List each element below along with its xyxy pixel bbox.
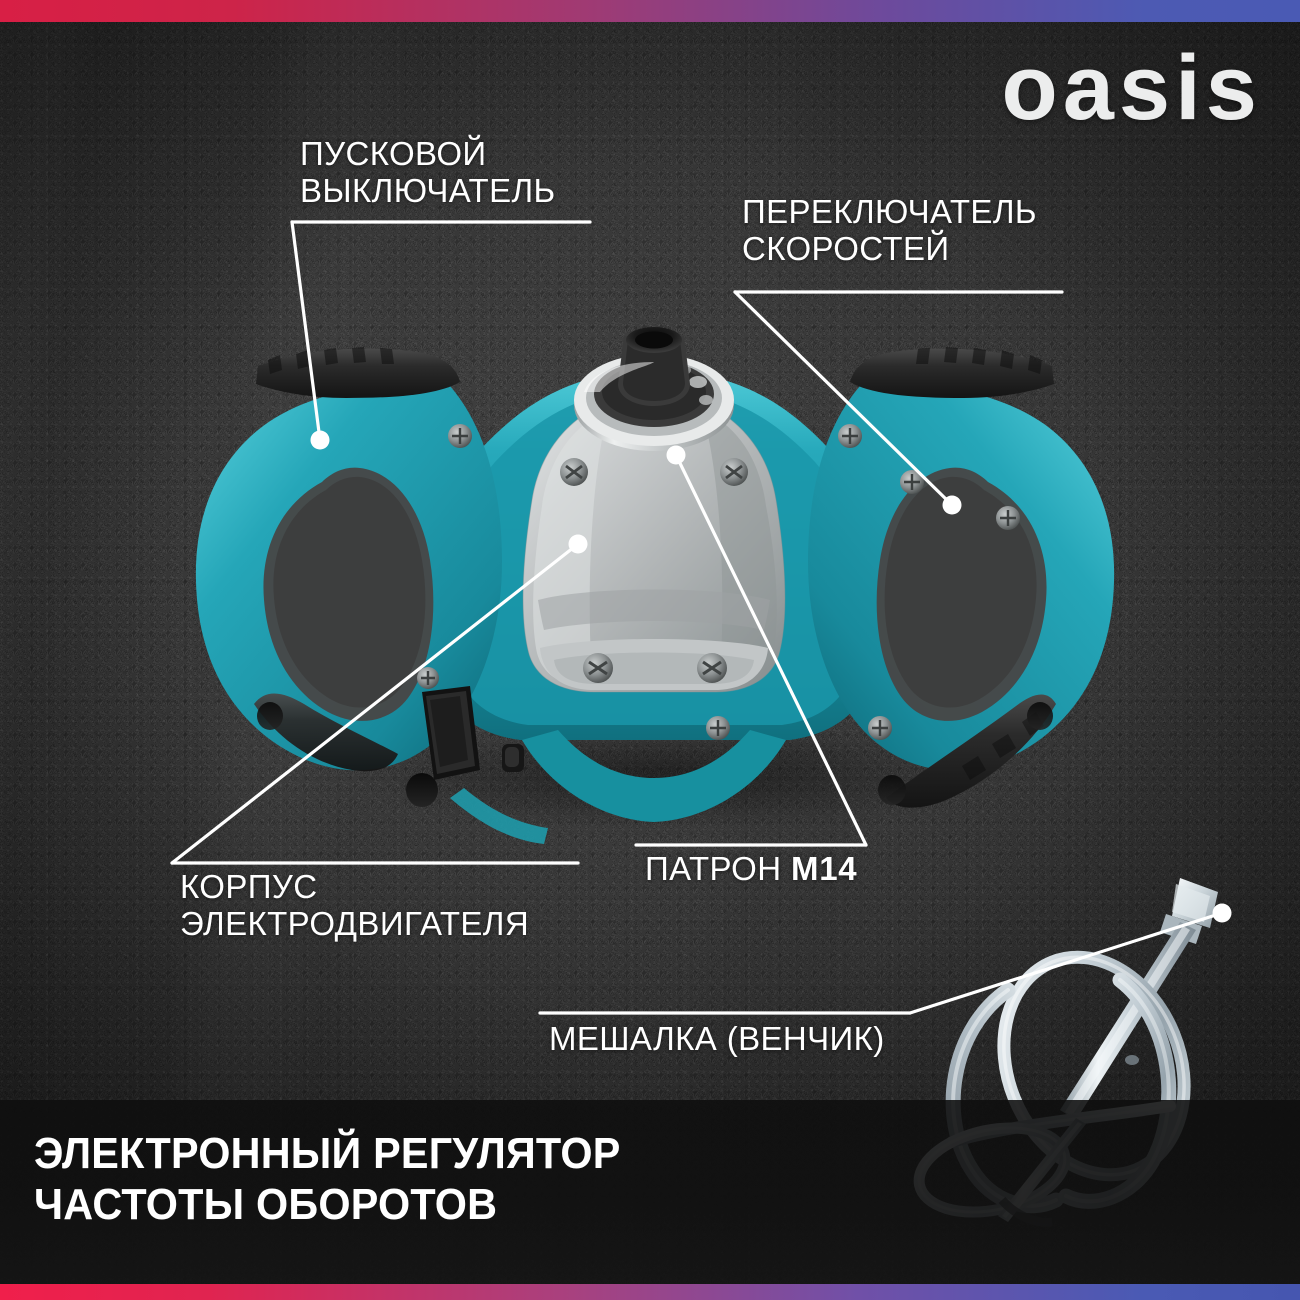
callout-label-start-switch: ПУСКОВОЙ ВЫКЛЮЧАТЕЛЬ bbox=[300, 136, 556, 210]
callout-motor-housing: КОРПУС ЭЛЕКТРОДВИГАТЕЛЯ bbox=[180, 869, 529, 943]
top-gradient-bar bbox=[0, 0, 1300, 22]
chuck-m14 bbox=[574, 327, 734, 451]
callout-label-chuck-size: M14 bbox=[791, 850, 857, 887]
headline-text: ЭЛЕКТРОННЫЙ РЕГУЛЯТОР ЧАСТОТЫ ОБОРОТОВ bbox=[34, 1129, 621, 1230]
product-image-mixer bbox=[150, 300, 1160, 860]
infographic-canvas: oasis bbox=[0, 0, 1300, 1300]
callout-whisk: МЕШАЛКА (ВЕНЧИК) bbox=[549, 1021, 885, 1058]
callout-label-chuck: ПАТРОН M14 bbox=[645, 851, 857, 888]
left-vent-hole bbox=[406, 773, 438, 807]
start-switch-trigger bbox=[422, 686, 480, 780]
callout-chuck-m14: ПАТРОН M14 bbox=[645, 851, 857, 888]
callout-speed-switch: ПЕРЕКЛЮЧАТЕЛЬ СКОРОСТЕЙ bbox=[742, 194, 1037, 268]
callout-label-motor-housing: КОРПУС ЭЛЕКТРОДВИГАТЕЛЯ bbox=[180, 869, 529, 943]
bottom-gradient-bar bbox=[0, 1284, 1300, 1300]
cable-outlet bbox=[450, 788, 548, 844]
callout-label-whisk: МЕШАЛКА (ВЕНЧИК) bbox=[549, 1021, 885, 1058]
callout-label-speed-switch: ПЕРЕКЛЮЧАТЕЛЬ СКОРОСТЕЙ bbox=[742, 194, 1037, 268]
callout-label-chuck-word: ПАТРОН bbox=[645, 850, 791, 887]
brand-logo: oasis bbox=[1001, 46, 1262, 131]
lower-neck bbox=[522, 730, 786, 822]
callout-start-switch: ПУСКОВОЙ ВЫКЛЮЧАТЕЛЬ bbox=[300, 136, 556, 210]
